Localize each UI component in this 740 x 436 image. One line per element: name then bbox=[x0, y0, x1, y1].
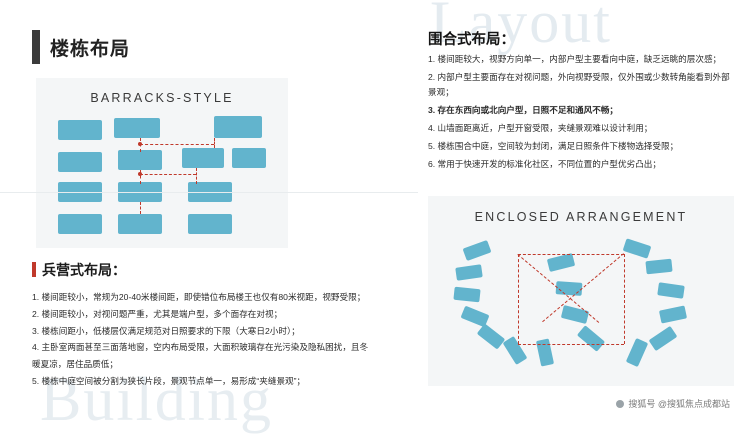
list-item: 5. 楼栋围合中庭，空间较为封闭，满足日照条件下楼物选择受限； bbox=[428, 139, 734, 154]
building-block bbox=[214, 116, 262, 138]
building-block bbox=[114, 118, 160, 138]
building-block bbox=[577, 325, 605, 352]
building-block bbox=[118, 150, 162, 170]
list-item: 4. 主卧室两面甚至三面落地窗，空内布局受限，大面积玻璃存在光污染及隐私困扰，且… bbox=[32, 340, 416, 355]
building-block bbox=[626, 338, 648, 367]
sight-line bbox=[196, 168, 197, 184]
slide-page: Layout Building 楼栋布局 BARRACKS-STYLE bbox=[0, 0, 740, 416]
sight-line bbox=[518, 344, 624, 345]
left-column: 楼栋布局 BARRACKS-STYLE bbox=[0, 0, 418, 416]
building-block bbox=[649, 326, 678, 351]
building-block bbox=[455, 264, 483, 280]
building-block bbox=[453, 287, 480, 303]
building-block bbox=[503, 336, 528, 365]
list-item: 2. 楼间距较小，对视问题严重，尤其是端户型，多个面存在对视； bbox=[32, 307, 416, 322]
building-block bbox=[463, 240, 492, 261]
section-accent-bar bbox=[32, 262, 36, 277]
building-block bbox=[477, 323, 505, 349]
barracks-diagram-caption: BARRACKS-STYLE bbox=[36, 91, 288, 105]
list-item: 3. 存在东西向或北向户型，日照不足和通风不畅； bbox=[428, 103, 734, 118]
list-item: 5. 楼栋中庭空间被分割为狭长片段，景观节点单一，易形成“夹缝景观”； bbox=[32, 374, 416, 389]
enclosed-diagram: ENCLOSED ARRANGEMENT bbox=[428, 196, 734, 386]
section-divider bbox=[0, 192, 418, 193]
building-block bbox=[58, 152, 102, 172]
source-watermark: 搜狐号 @搜狐焦点成都站 bbox=[616, 397, 730, 410]
right-column: 围合式布局： 1. 楼间距较大，视野方向单一，内部户型主要看向中庭，缺乏远眺的层… bbox=[420, 0, 740, 416]
list-item: 2. 内部户型主要面存在对视问题，外向视野受限，仅外围或少数转角能看到外部景观； bbox=[428, 70, 734, 100]
sight-line bbox=[518, 254, 624, 255]
list-item: 1. 楼间距较大，视野方向单一，内部户型主要看向中庭，缺乏远眺的层次感； bbox=[428, 52, 734, 67]
sight-line bbox=[518, 254, 519, 344]
sight-line bbox=[624, 254, 625, 344]
page-title-text: 楼栋布局 bbox=[50, 34, 130, 61]
list-item: 暖夏凉，居住品质低； bbox=[32, 357, 416, 372]
building-block bbox=[188, 214, 232, 234]
building-block bbox=[536, 338, 554, 366]
building-block bbox=[118, 214, 162, 234]
building-block bbox=[58, 214, 102, 234]
sight-line bbox=[140, 174, 196, 175]
sight-line bbox=[140, 144, 214, 145]
building-block bbox=[182, 148, 224, 168]
title-accent-bar bbox=[32, 30, 40, 64]
barracks-diagram: BARRACKS-STYLE bbox=[36, 78, 288, 248]
building-block bbox=[659, 305, 687, 323]
sight-line-node bbox=[138, 172, 142, 176]
left-bullet-list: 1. 楼间距较小，常规为20-40米楼间距，即使错位布局楼王也仅有80米视距，视… bbox=[32, 290, 416, 391]
left-section-heading: 兵营式布局： bbox=[42, 260, 126, 280]
list-item: 1. 楼间距较小，常规为20-40米楼间距，即使错位布局楼王也仅有80米视距，视… bbox=[32, 290, 416, 305]
sight-line bbox=[214, 138, 215, 148]
list-item: 3. 楼栋间距小，低楼层仅满足规范对日照要求的下限（大寒日2小时）； bbox=[32, 324, 416, 339]
source-logo-icon bbox=[616, 400, 624, 408]
building-block bbox=[58, 120, 102, 140]
building-block bbox=[657, 282, 685, 298]
building-block bbox=[561, 305, 589, 324]
page-title: 楼栋布局 bbox=[32, 30, 202, 64]
building-block bbox=[232, 148, 266, 168]
sight-line bbox=[140, 202, 141, 214]
list-item: 6. 常用于快速开发的标准化社区，不同位置的户型优劣凸出； bbox=[428, 157, 734, 172]
right-section-heading: 围合式布局： bbox=[428, 28, 515, 49]
building-block bbox=[623, 238, 652, 258]
building-block bbox=[547, 253, 575, 272]
right-bullet-list: 1. 楼间距较大，视野方向单一，内部户型主要看向中庭，缺乏远眺的层次感； 2. … bbox=[428, 52, 734, 175]
building-block bbox=[645, 259, 672, 275]
sight-line-node bbox=[138, 142, 142, 146]
enclosed-diagram-caption: ENCLOSED ARRANGEMENT bbox=[428, 210, 734, 224]
list-item: 4. 山墙面距离近，户型开窗受限，夹缝景观难以设计利用； bbox=[428, 121, 734, 136]
source-watermark-text: 搜狐号 @搜狐焦点成都站 bbox=[628, 399, 730, 409]
